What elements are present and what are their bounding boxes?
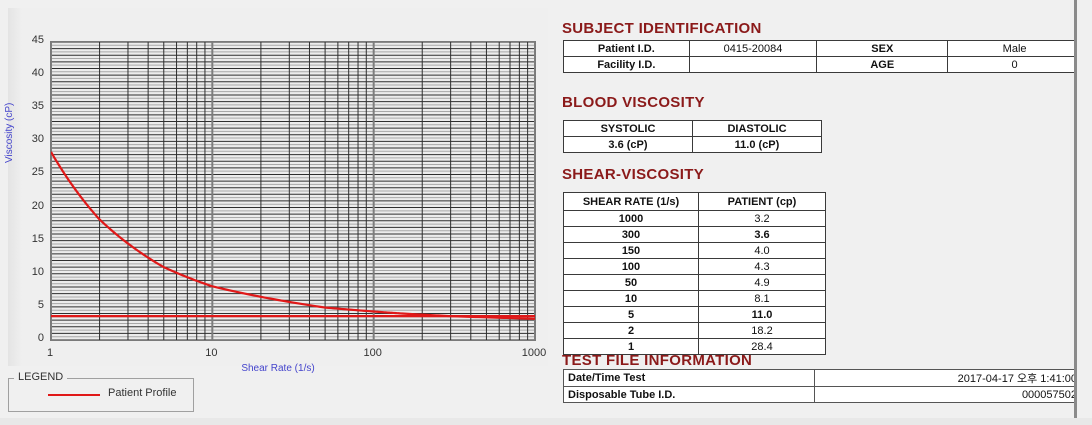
shear-viscosity-header: PATIENT (cp) (699, 193, 826, 211)
patient-viscosity-cell: 4.9 (699, 275, 826, 291)
x-axis-tick-label: 100 (353, 347, 393, 359)
y-axis-tick-label: 45 (10, 34, 44, 46)
subject-field-value[interactable] (689, 57, 817, 73)
subject-identification-title: SUBJECT IDENTIFICATION (562, 20, 762, 37)
y-axis-tick-label: 10 (10, 266, 44, 278)
shear-viscosity-title: SHEAR-VISCOSITY (562, 166, 704, 183)
blood-viscosity-value: 11.0 (cP) (693, 137, 822, 153)
subject-field-label: Patient I.D. (564, 41, 690, 57)
table-row: 3.6 (cP)11.0 (cP) (564, 137, 822, 153)
patient-viscosity-cell: 11.0 (699, 307, 826, 323)
table-row: 218.2 (564, 323, 826, 339)
test-file-field-value: 2017-04-17 오후 1:41:00 (814, 370, 1081, 387)
x-axis-tick-label: 1000 (514, 347, 554, 359)
test-file-field-label: Disposable Tube I.D. (564, 387, 815, 403)
shear-rate-cell: 150 (564, 243, 699, 259)
patient-viscosity-cell: 4.0 (699, 243, 826, 259)
report-window: 051015202530354045 Viscosity (cP) Shear … (0, 0, 1092, 425)
table-row: 511.0 (564, 307, 826, 323)
y-axis-tick-label: 25 (10, 166, 44, 178)
table-row: 504.9 (564, 275, 826, 291)
blood-viscosity-header: SYSTOLIC (564, 121, 693, 137)
window-right-pane (1077, 0, 1092, 425)
shear-rate-cell: 10 (564, 291, 699, 307)
y-axis-tick-label: 35 (10, 100, 44, 112)
subject-identification-table: Patient I.D.0415-20084SEXMaleFacility I.… (563, 40, 1082, 73)
table-header-row: SHEAR RATE (1/s)PATIENT (cp) (564, 193, 826, 211)
shear-rate-cell: 2 (564, 323, 699, 339)
patient-viscosity-cell: 8.1 (699, 291, 826, 307)
table-row: Facility I.D.AGE0 (564, 57, 1082, 73)
table-row: 1504.0 (564, 243, 826, 259)
x-axis-title: Shear Rate (1/s) (8, 363, 548, 374)
y-axis-tick-label: 30 (10, 133, 44, 145)
shear-viscosity-table: SHEAR RATE (1/s)PATIENT (cp)10003.23003.… (563, 192, 826, 355)
report-column: SUBJECT IDENTIFICATION Patient I.D.0415-… (562, 0, 1082, 425)
chart-plot-area (50, 41, 536, 341)
legend-line-swatch (48, 394, 100, 396)
y-axis-tick-label: 20 (10, 200, 44, 212)
shear-rate-cell: 300 (564, 227, 699, 243)
blood-viscosity-title: BLOOD VISCOSITY (562, 94, 705, 111)
table-row: Disposable Tube I.D.000057502 (564, 387, 1082, 403)
x-axis-tick-label: 10 (191, 347, 231, 359)
patient-viscosity-cell: 3.6 (699, 227, 826, 243)
chart-svg (51, 42, 535, 340)
patient-viscosity-cell: 18.2 (699, 323, 826, 339)
table-row: 3003.6 (564, 227, 826, 243)
test-file-field-label: Date/Time Test (564, 370, 815, 387)
patient-viscosity-cell: 3.2 (699, 211, 826, 227)
table-header-row: SYSTOLICDIASTOLIC (564, 121, 822, 137)
legend-entry-label: Patient Profile (108, 387, 176, 399)
subject-field-value[interactable]: 0415-20084 (689, 41, 817, 57)
patient-viscosity-cell: 4.3 (699, 259, 826, 275)
y-axis-tick-label: 15 (10, 233, 44, 245)
test-file-information-table: Date/Time Test2017-04-17 오후 1:41:00Dispo… (563, 369, 1082, 403)
y-axis-tick-label: 0 (10, 332, 44, 344)
test-file-information-title: TEST FILE INFORMATION (562, 352, 752, 369)
table-row: 1004.3 (564, 259, 826, 275)
blood-viscosity-header: DIASTOLIC (693, 121, 822, 137)
subject-field-label: Facility I.D. (564, 57, 690, 73)
shear-viscosity-header: SHEAR RATE (1/s) (564, 193, 699, 211)
y-axis-tick-label: 40 (10, 67, 44, 79)
table-row: Patient I.D.0415-20084SEXMale (564, 41, 1082, 57)
window-bottom-strip (0, 418, 1092, 425)
test-file-field-value: 000057502 (814, 387, 1081, 403)
blood-viscosity-value: 3.6 (cP) (564, 137, 693, 153)
table-row: 10003.2 (564, 211, 826, 227)
shear-rate-cell: 50 (564, 275, 699, 291)
viscosity-chart-panel: 051015202530354045 Viscosity (cP) Shear … (8, 8, 548, 366)
table-row: 108.1 (564, 291, 826, 307)
y-axis-title: Viscosity (cP) (4, 103, 15, 163)
subject-field-label: AGE (817, 57, 948, 73)
blood-viscosity-table: SYSTOLICDIASTOLIC3.6 (cP)11.0 (cP) (563, 120, 822, 153)
shear-rate-cell: 100 (564, 259, 699, 275)
x-axis-tick-label: 1 (30, 347, 70, 359)
subject-field-value[interactable]: Male (948, 41, 1082, 57)
y-axis-ticks: 051015202530354045 (8, 8, 44, 366)
shear-rate-cell: 5 (564, 307, 699, 323)
y-axis-tick-label: 5 (10, 299, 44, 311)
table-row: Date/Time Test2017-04-17 오후 1:41:00 (564, 370, 1082, 387)
shear-rate-cell: 1000 (564, 211, 699, 227)
legend-caption: LEGEND (14, 371, 67, 383)
subject-field-value[interactable]: 0 (948, 57, 1082, 73)
subject-field-label: SEX (817, 41, 948, 57)
